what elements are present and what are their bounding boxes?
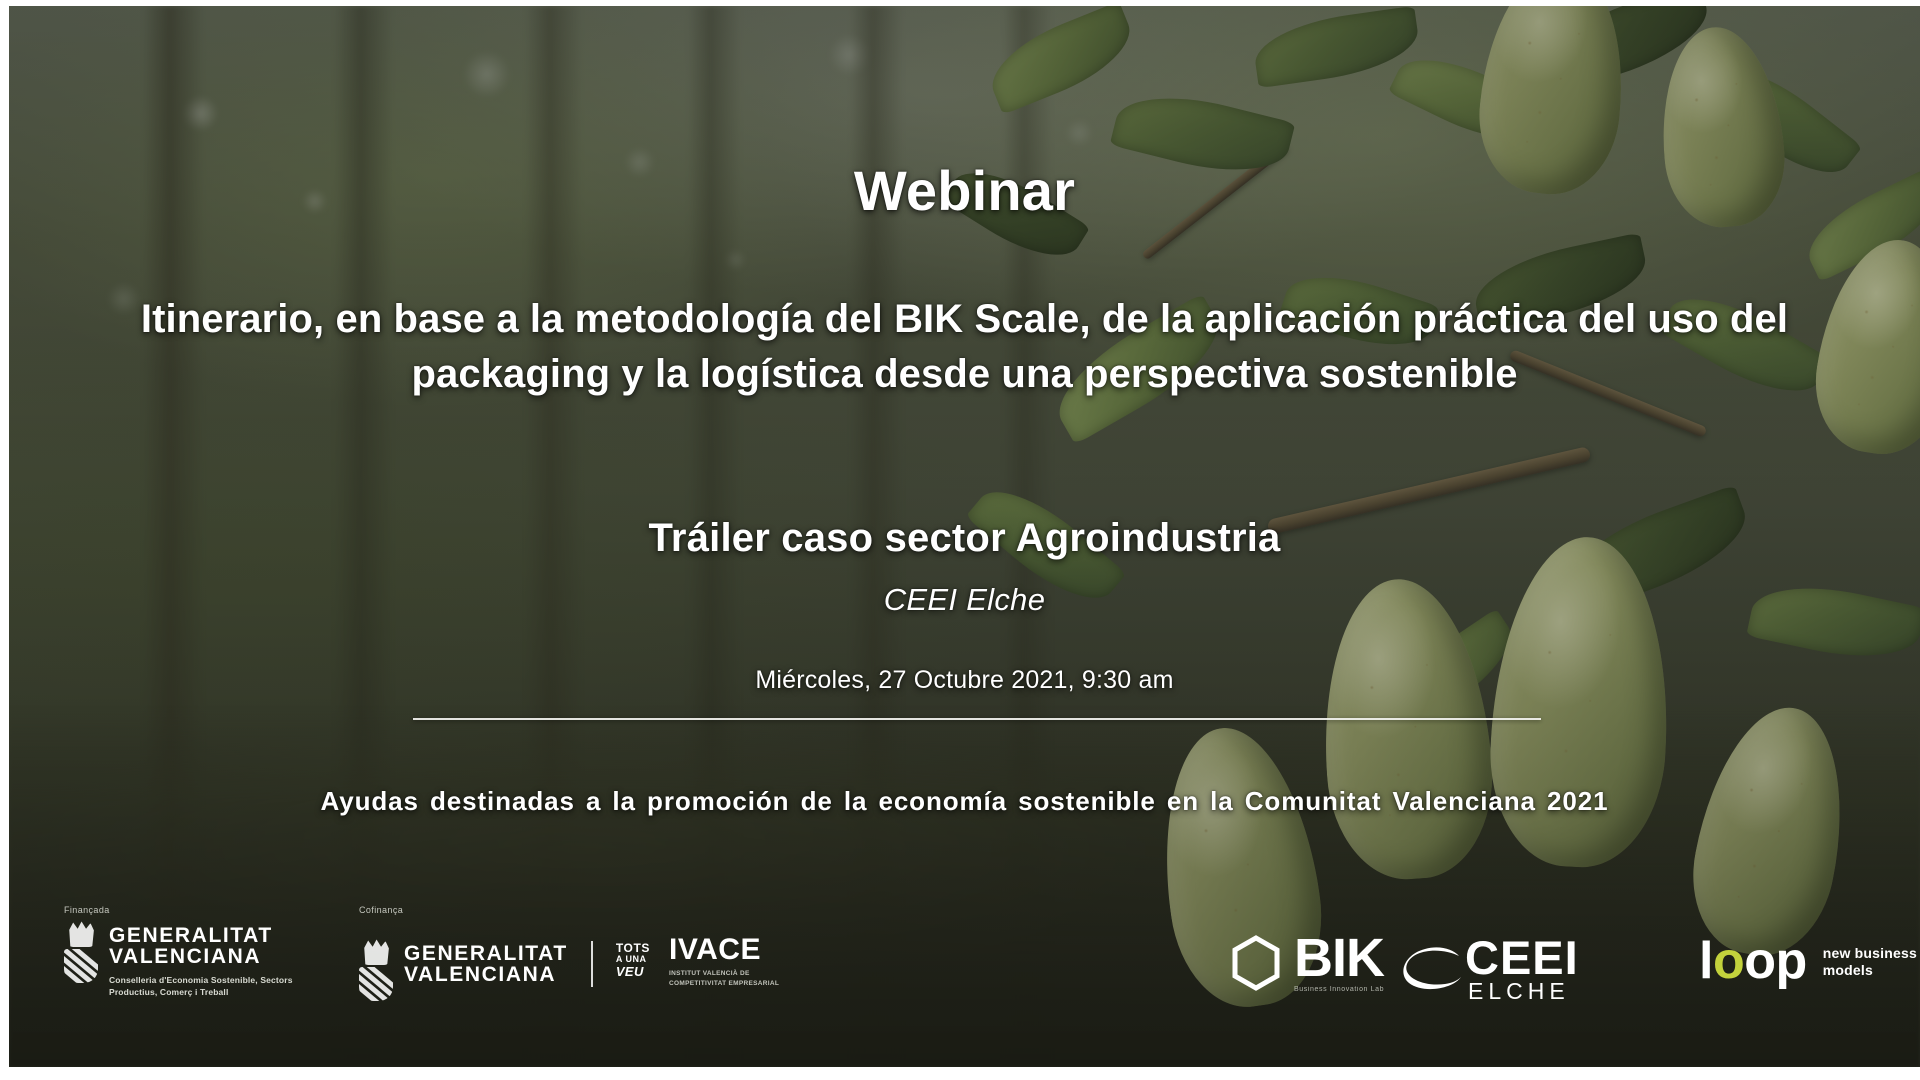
ceei-swoosh-icon: [1401, 945, 1463, 993]
bik-wordmark: BIK: [1294, 933, 1384, 984]
generalitat-shield-icon: [359, 939, 393, 1001]
logo-band: Finançada GENERALITAT VALENCIANA Consell…: [9, 899, 1920, 1049]
slide-content: Webinar Itinerario, en base a la metodol…: [9, 6, 1920, 1067]
bik-tagline: Business Innovation Lab: [1294, 986, 1384, 993]
conselleria-department: Conselleria d'Economia Sostenible, Secto…: [109, 974, 299, 999]
generalitat-line1: GENERALITAT: [404, 943, 568, 964]
logo-bik: BIK Business Innovation Lab: [1231, 933, 1384, 993]
loop-word-accent: o: [1713, 932, 1744, 990]
slide-frame: Webinar Itinerario, en base a la metodol…: [0, 0, 1920, 1080]
loop-sub-line1: new business: [1823, 945, 1917, 962]
loop-wordmark: loop: [1699, 937, 1807, 986]
logo-loop: loop new business models: [1699, 937, 1917, 986]
cofunded-by-label: Cofinança: [359, 905, 650, 915]
programme-caption: Ayudas destinadas a la promoción de la e…: [9, 786, 1920, 817]
hexagon-icon: [1231, 935, 1281, 991]
generalitat-line1: GENERALITAT: [109, 925, 299, 946]
background-photo: Webinar Itinerario, en base a la metodol…: [9, 6, 1920, 1067]
loop-sub-line2: models: [1823, 962, 1917, 979]
horizontal-divider: [413, 718, 1541, 720]
ceei-city: ELCHE: [1465, 980, 1579, 1002]
loop-word-part3: op: [1744, 932, 1807, 990]
session-datetime: Miércoles, 27 Octubre 2021, 9:30 am: [9, 666, 1920, 695]
logo-generalitat-secondary: Cofinança GENERALITAT VALENCIANA TOTS: [359, 905, 650, 1001]
webinar-kicker: Webinar: [9, 158, 1920, 223]
ceei-wordmark: CEEI: [1465, 935, 1579, 980]
tots-line1: TOTS: [616, 942, 650, 955]
logo-ceei-elche: CEEI ELCHE: [1401, 935, 1579, 1002]
generalitat-shield-icon: [64, 921, 98, 983]
ivace-wordmark: IVACE: [669, 935, 801, 965]
ivace-subtitle: Institut Valencià de Competitivitat Empr…: [669, 969, 801, 989]
logo-divider: [591, 941, 593, 987]
generalitat-line2: VALENCIANA: [404, 964, 568, 985]
session-title: Tráiler caso sector Agroindustria: [9, 516, 1920, 561]
page-title: Itinerario, en base a la metodología del…: [65, 292, 1865, 402]
logo-ivace: IVACE Institut Valencià de Competitivita…: [669, 935, 801, 989]
generalitat-line2: VALENCIANA: [109, 946, 299, 967]
tots-line3: VEU: [616, 965, 650, 979]
logo-generalitat-primary: Finançada GENERALITAT VALENCIANA Consell…: [64, 905, 299, 998]
loop-word-part1: l: [1699, 932, 1713, 990]
funded-by-label: Finançada: [64, 905, 299, 915]
organizer-name: CEEI Elche: [9, 582, 1920, 618]
